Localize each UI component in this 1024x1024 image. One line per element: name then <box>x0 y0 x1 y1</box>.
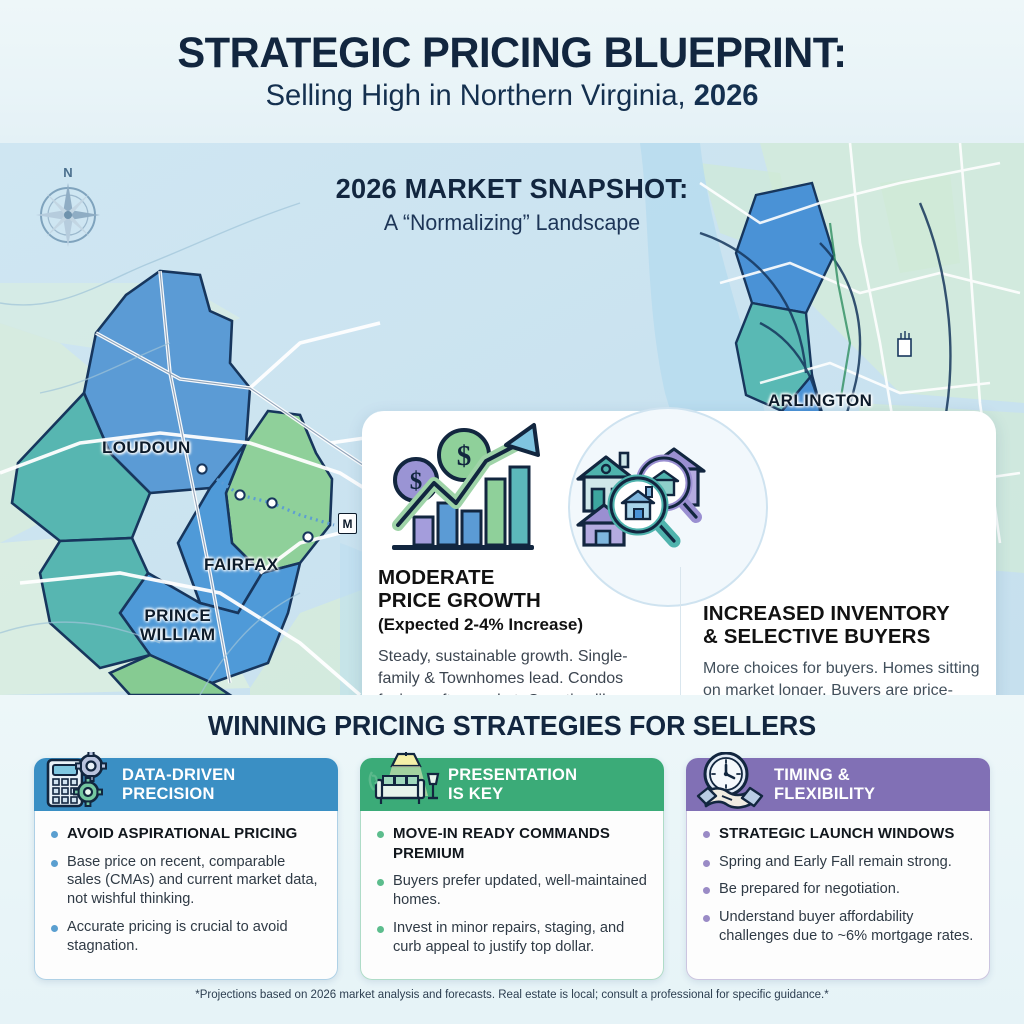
right-head-line1: INCREASED INVENTORY <box>703 602 950 625</box>
bullet-dot <box>703 860 710 867</box>
bullet-dot <box>377 831 384 838</box>
pw-line2: WILLIAM <box>140 625 216 644</box>
card3-head-line1: TIMING & <box>774 766 850 784</box>
left-head-line2: PRICE GROWTH <box>378 589 541 612</box>
column-heading-right: INCREASED INVENTORY & SELECTIVE BUYERS <box>703 603 980 649</box>
card1-head-line2: PRECISION <box>122 785 215 803</box>
bullet-dot <box>51 831 58 838</box>
right-head-line2: & SELECTIVE BUYERS <box>703 625 930 648</box>
svg-text:$: $ <box>457 440 472 472</box>
strategies-section: WINNING PRICING STRATEGIES FOR SELLERS <box>0 695 1024 1024</box>
map-label-fairfax: FAIRFAX <box>204 555 279 575</box>
strategy-card-body-wrap-1: AVOID ASPIRATIONAL PRICING Base price on… <box>34 811 338 980</box>
list-item: Base price on recent, comparable sales (… <box>49 853 323 910</box>
map-band: N M LOUDOUN FAIRFAX PRINCEWILLIAM ARLING… <box>0 143 1024 695</box>
list-item: Spring and Early Fall remain strong. <box>701 853 975 872</box>
strategy-card-header-2: PRESENTATION IS KEY <box>360 758 664 811</box>
page-subtitle: Selling High in Northern Virginia, 2026 <box>266 81 759 111</box>
strategy-card-bullets-1: AVOID ASPIRATIONAL PRICING Base price on… <box>35 811 337 975</box>
list-item: Be prepared for negotiation. <box>701 880 975 899</box>
bullet-dot <box>703 831 710 838</box>
card-columns: MODERATE PRICE GROWTH (Expected 2-4% Inc… <box>362 567 996 695</box>
strategy-card-body-wrap-2: MOVE-IN READY COMMANDS PREMIUM Buyers pr… <box>360 811 664 980</box>
sofa-lamp-icon <box>368 752 442 814</box>
column-body-right: More choices for buyers. Homes sitting o… <box>703 658 980 695</box>
column-subheading-left: (Expected 2-4% Increase) <box>378 615 664 635</box>
bullet-text: Spring and Early Fall remain strong. <box>719 853 952 872</box>
strategy-header-text-3: TIMING & FLEXIBILITY <box>774 766 875 804</box>
strategy-card-data-driven-precision[interactable]: DATA-DRIVEN PRECISION AVOID ASPIRATIONAL… <box>34 758 338 980</box>
subtitle-text: Selling High in Northern Virginia, <box>266 79 694 112</box>
compass-rose-icon: N <box>32 165 104 251</box>
column-increased-inventory: INCREASED INVENTORY & SELECTIVE BUYERS M… <box>680 567 996 695</box>
header-banner: STRATEGIC PRICING BLUEPRINT: Selling Hig… <box>0 0 1024 143</box>
page-title: STRATEGIC PRICING BLUEPRINT: <box>177 32 846 75</box>
map-label-loudoun: LOUDOUN <box>102 438 191 458</box>
list-item: Buyers prefer updated, well-maintained h… <box>375 872 649 910</box>
bullet-text: Buyers prefer updated, well-maintained h… <box>393 872 649 910</box>
bullet-text: Be prepared for negotiation. <box>719 880 900 899</box>
strategy-card-header-3: TIMING & FLEXIBILITY <box>686 758 990 811</box>
list-item: MOVE-IN READY COMMANDS PREMIUM <box>375 824 649 863</box>
list-item: AVOID ASPIRATIONAL PRICING <box>49 824 323 844</box>
left-head-line1: MODERATE <box>378 566 495 589</box>
subtitle-year: 2026 <box>694 79 759 112</box>
card3-head-line2: FLEXIBILITY <box>774 785 875 803</box>
bullet-text: Invest in minor repairs, staging, and cu… <box>393 919 649 957</box>
card2-head-line1: PRESENTATION <box>448 766 577 784</box>
strategy-cards-row: DATA-DRIVEN PRECISION AVOID ASPIRATIONAL… <box>34 758 990 980</box>
bullet-dot <box>51 860 58 867</box>
map-label-arlington: ARLINGTON <box>768 391 872 411</box>
strategy-card-bullets-3: STRATEGIC LAUNCH WINDOWS Spring and Earl… <box>687 811 989 965</box>
card-icon-row: $ $ <box>362 411 996 571</box>
strategy-card-presentation-is-key[interactable]: PRESENTATION IS KEY MOVE-IN READY COMMAN… <box>360 758 664 980</box>
bullet-dot <box>703 915 710 922</box>
list-item: Invest in minor repairs, staging, and cu… <box>375 919 649 957</box>
strategy-header-text-1: DATA-DRIVEN PRECISION <box>122 766 235 804</box>
bullet-dot <box>377 879 384 886</box>
list-item: Accurate pricing is crucial to avoid sta… <box>49 918 323 956</box>
market-snapshot-card: $ $ <box>362 411 996 695</box>
strategy-card-timing-flexibility[interactable]: TIMING & FLEXIBILITY STRATEGIC LAUNCH WI… <box>686 758 990 980</box>
list-item: STRATEGIC LAUNCH WINDOWS <box>701 824 975 844</box>
bullet-text: STRATEGIC LAUNCH WINDOWS <box>719 824 954 844</box>
clock-handshake-icon <box>694 752 768 814</box>
bullet-text: Base price on recent, comparable sales (… <box>67 853 323 910</box>
card1-head-line1: DATA-DRIVEN <box>122 766 235 784</box>
column-body-left: Steady, sustainable growth. Single-famil… <box>378 646 664 695</box>
strategy-card-bullets-2: MOVE-IN READY COMMANDS PREMIUM Buyers pr… <box>361 811 663 976</box>
bullet-dot <box>377 926 384 933</box>
bullet-text: AVOID ASPIRATIONAL PRICING <box>67 824 297 844</box>
bullet-text: Accurate pricing is crucial to avoid sta… <box>67 918 323 956</box>
list-item: Understand buyer affordability challenge… <box>701 908 975 946</box>
column-moderate-price-growth: MODERATE PRICE GROWTH (Expected 2-4% Inc… <box>362 567 680 695</box>
compass-north-label: N <box>63 165 72 180</box>
strategies-section-title: WINNING PRICING STRATEGIES FOR SELLERS <box>20 710 1003 742</box>
column-heading-left: MODERATE PRICE GROWTH <box>378 567 664 613</box>
infographic-page: STRATEGIC PRICING BLUEPRINT: Selling Hig… <box>0 0 1024 1024</box>
bullet-text: MOVE-IN READY COMMANDS PREMIUM <box>393 824 649 863</box>
strategy-header-text-2: PRESENTATION IS KEY <box>448 766 577 804</box>
map-label-prince-william: PRINCEWILLIAM <box>140 606 216 644</box>
strategy-card-body-wrap-3: STRATEGIC LAUNCH WINDOWS Spring and Earl… <box>686 811 990 980</box>
strategy-card-header-1: DATA-DRIVEN PRECISION <box>34 758 338 811</box>
bullet-dot <box>51 925 58 932</box>
metro-station-icon: M <box>338 513 357 534</box>
bullet-dot <box>703 887 710 894</box>
pw-line1: PRINCE <box>144 606 211 625</box>
calculator-gears-icon <box>42 752 116 814</box>
card2-head-line2: IS KEY <box>448 785 503 803</box>
footer-disclaimer: *Projections based on 2026 market analys… <box>36 987 988 1001</box>
bullet-text: Understand buyer affordability challenge… <box>719 908 975 946</box>
